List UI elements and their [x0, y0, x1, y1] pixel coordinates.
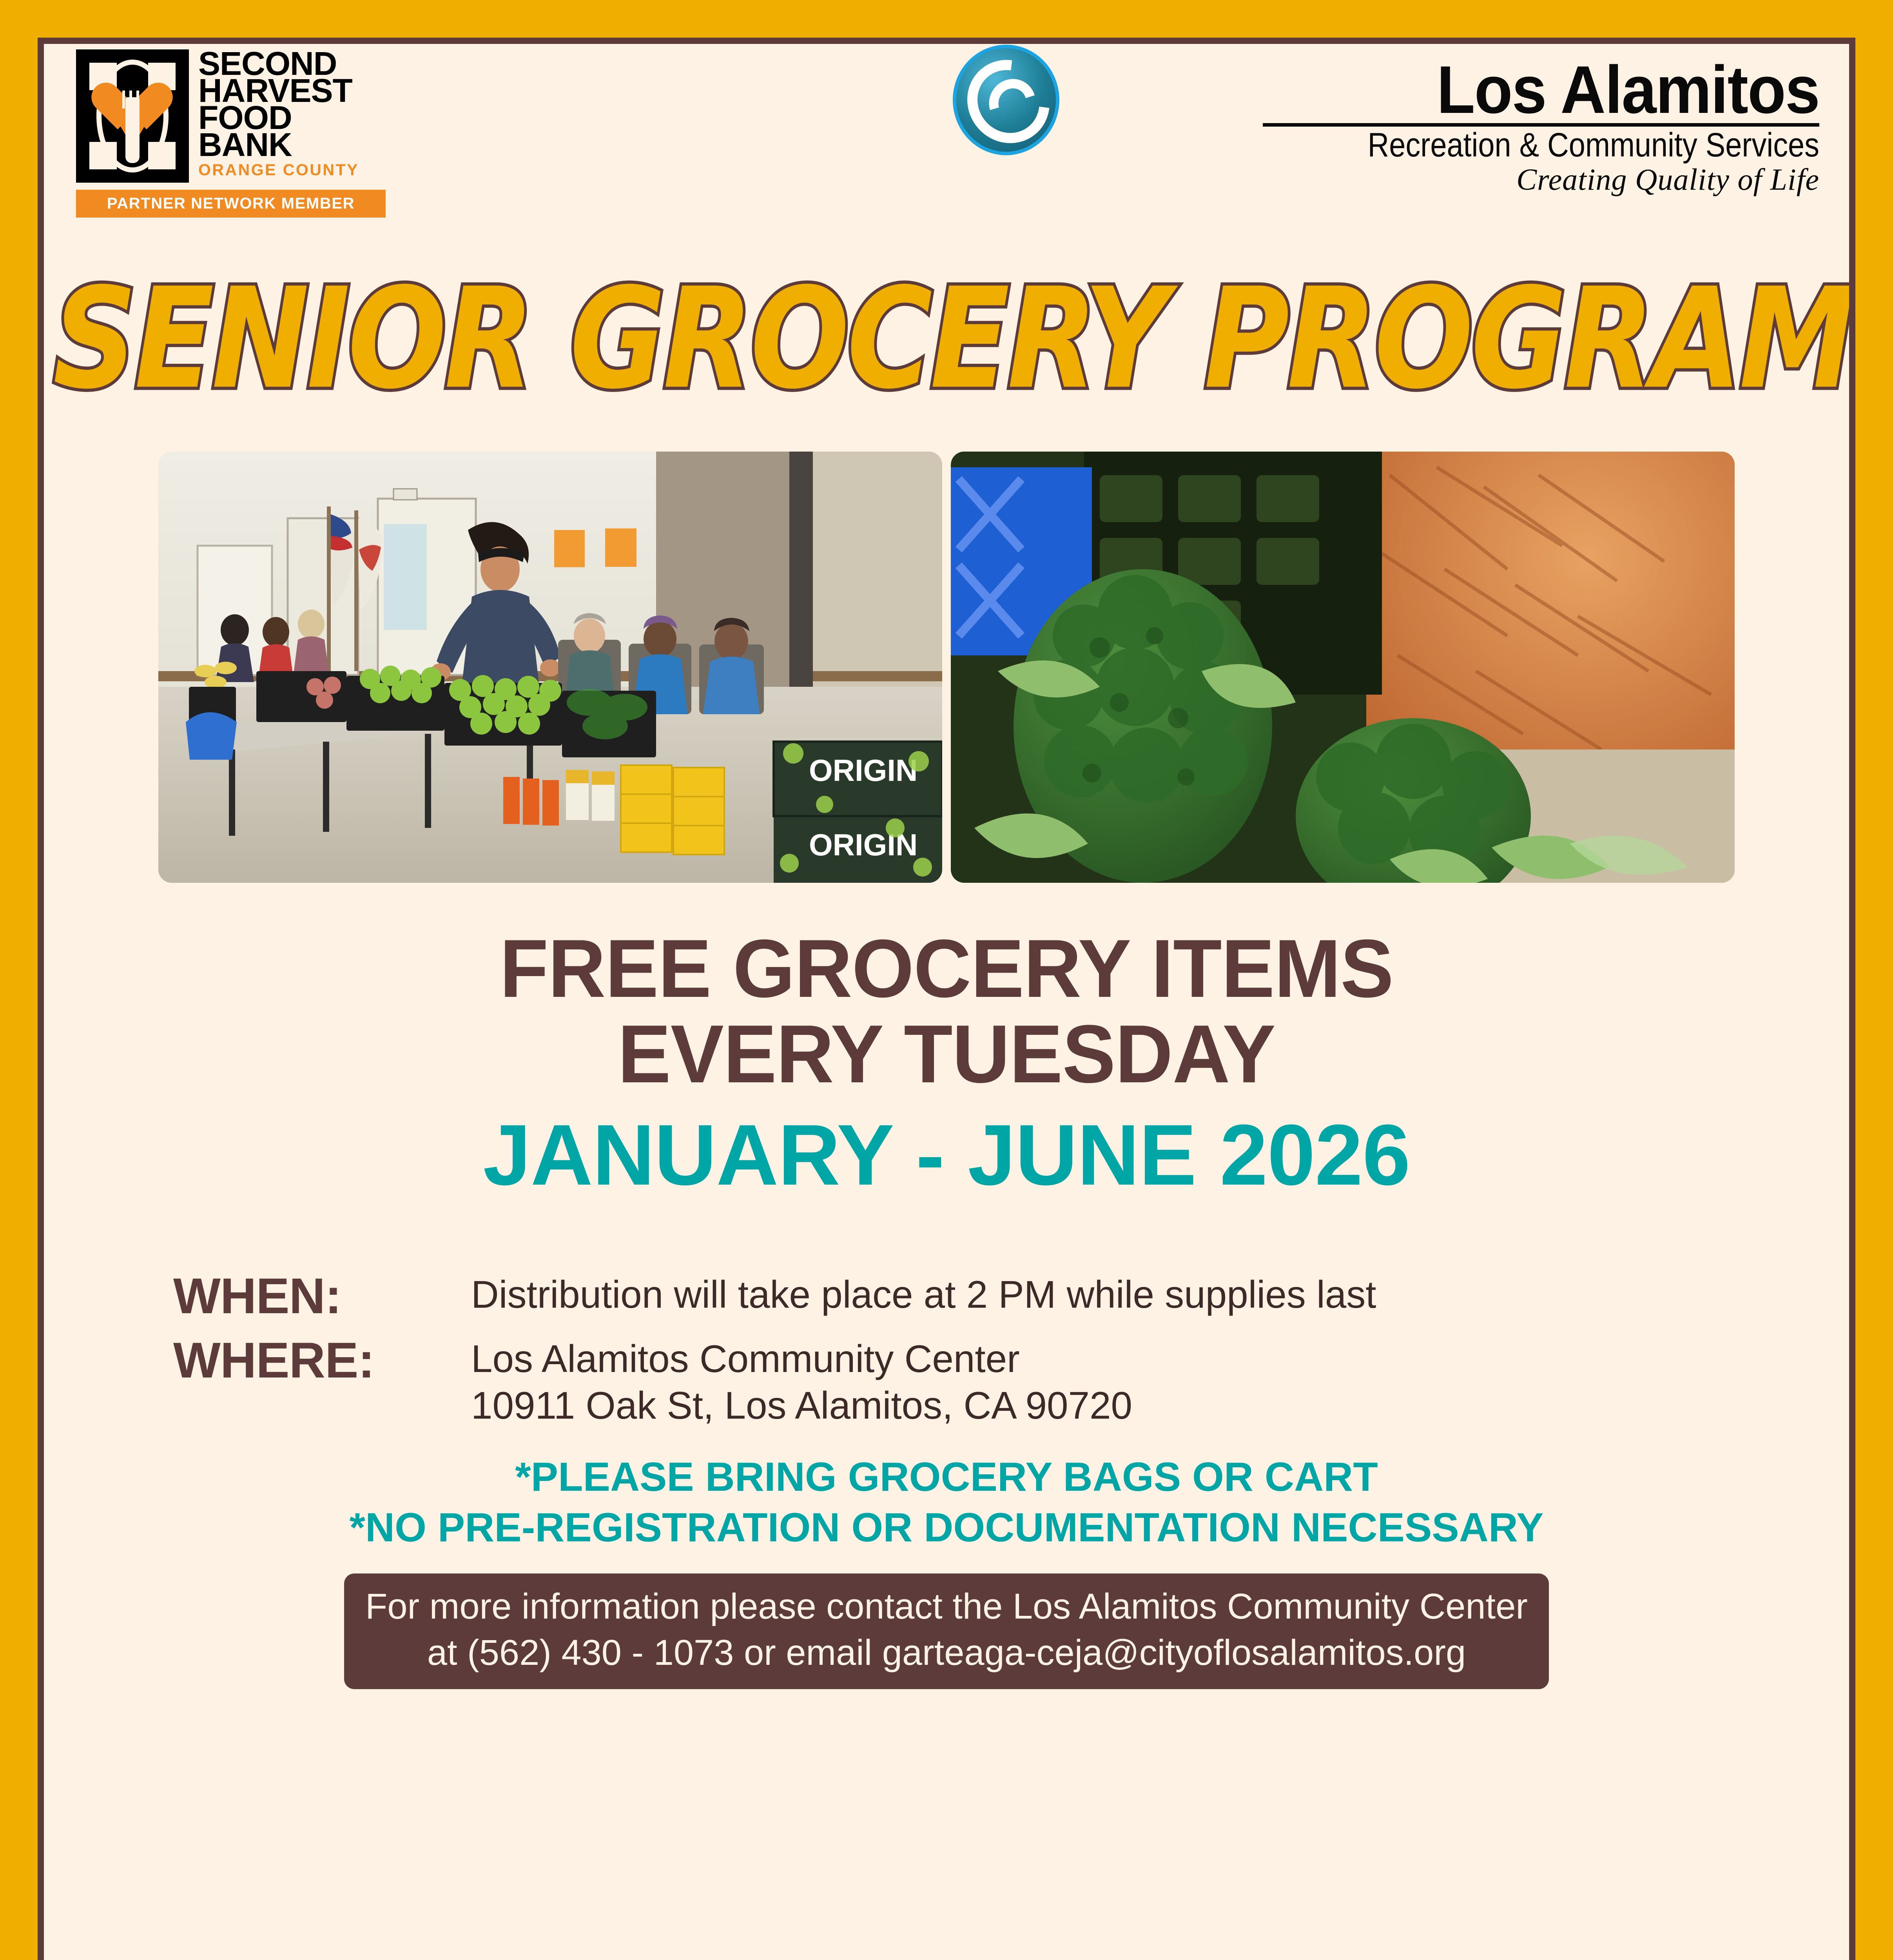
when-row: WHEN: Distribution will take place at 2 … — [173, 1271, 1849, 1321]
los-alamitos-subtitle: Recreation & Community Services — [1302, 128, 1819, 162]
main-line-1: FREE GROCERY ITEMS — [71, 926, 1822, 1011]
los-alamitos-tagline: Creating Quality of Life — [1231, 163, 1819, 196]
page-title-wrap: SENIOR GROCERY PROGRAM — [44, 270, 1849, 387]
contact-section: For more information please contact the … — [44, 1573, 1849, 1690]
cottonwood-church-logo: COTTONWOOD CHURCH — [902, 45, 1110, 220]
notes-section: *PLEASE BRING GROCERY BAGS OR CART *NO P… — [44, 1452, 1849, 1553]
cottonwood-wave-icon — [953, 45, 1059, 155]
contact-box: For more information please contact the … — [344, 1573, 1549, 1690]
flyer-poster: SECOND HARVEST FOOD BANK ORANGE COUNTY P… — [0, 0, 1893, 1960]
where-venue: Los Alamitos Community Center — [471, 1336, 1132, 1383]
cottonwood-line-1: COTTONWOOD — [923, 160, 1090, 180]
second-harvest-logo: SECOND HARVEST FOOD BANK ORANGE COUNTY P… — [76, 49, 390, 218]
los-alamitos-name: Los Alamitos — [1273, 59, 1819, 121]
where-value: Los Alamitos Community Center 10911 Oak … — [471, 1336, 1132, 1429]
note-no-registration: *NO PRE-REGISTRATION OR DOCUMENTATION NE… — [44, 1503, 1849, 1553]
contact-line-2: at (562) 430 - 1073 or email garteaga-ce… — [365, 1630, 1528, 1676]
photo-food-distribution: ORIGIN ORIGIN — [158, 452, 942, 883]
note-bring-bags: *PLEASE BRING GROCERY BAGS OR CART — [44, 1452, 1849, 1503]
when-value: Distribution will take place at 2 PM whi… — [471, 1271, 1376, 1318]
svg-text:ORIGIN: ORIGIN — [809, 753, 917, 788]
where-row: WHERE: Los Alamitos Community Center 109… — [173, 1336, 1849, 1429]
photo-row: ORIGIN ORIGIN — [44, 452, 1849, 883]
photo-broccoli — [951, 452, 1735, 883]
program-dates: JANUARY - JUNE 2026 — [44, 1107, 1849, 1202]
partner-network-badge: PARTNER NETWORK MEMBER — [76, 190, 386, 218]
shfb-line-4: BANK — [198, 131, 359, 158]
main-message: FREE GROCERY ITEMS EVERY TUESDAY JANUARY… — [44, 926, 1849, 1202]
shfb-region: ORANGE COUNTY — [198, 161, 359, 179]
page-title: SENIOR GROCERY PROGRAM — [53, 270, 1853, 408]
contact-line-1: For more information please contact the … — [365, 1584, 1528, 1630]
los-alamitos-logo: Los Alamitos Recreation & Community Serv… — [1231, 59, 1819, 196]
logo-row: SECOND HARVEST FOOD BANK ORANGE COUNTY P… — [44, 44, 1849, 263]
flyer-inner-frame: SECOND HARVEST FOOD BANK ORANGE COUNTY P… — [38, 38, 1855, 1960]
where-label: WHERE: — [173, 1336, 471, 1386]
where-address: 10911 Oak St, Los Alamitos, CA 90720 — [471, 1382, 1132, 1429]
plate-fork-heart-icon — [76, 49, 189, 183]
when-label: WHEN: — [173, 1271, 471, 1321]
details-section: WHEN: Distribution will take place at 2 … — [44, 1271, 1849, 1429]
when-text: Distribution will take place at 2 PM whi… — [471, 1271, 1376, 1318]
main-line-2: EVERY TUESDAY — [71, 1011, 1822, 1097]
cottonwood-line-2: CHURCH — [923, 180, 1090, 212]
